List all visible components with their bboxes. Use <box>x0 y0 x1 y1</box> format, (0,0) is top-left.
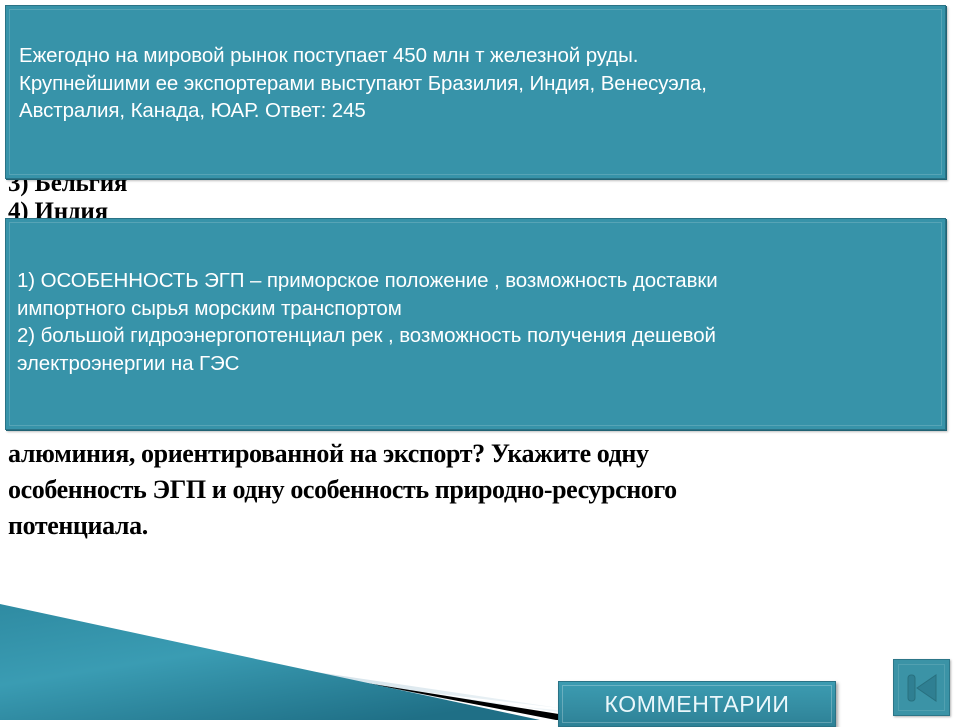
slide-canvas: 3) Бельгия 4) Индия алюминия, ориентиров… <box>0 0 960 720</box>
question-line: алюминия, ориентированной на экспорт? Ук… <box>8 436 677 472</box>
panel-line: Австралия, Канада, ЮАР. Ответ: 245 <box>19 97 707 125</box>
question-line: особенность ЭГП и одну особенность приро… <box>8 472 677 508</box>
comments-button-label: КОММЕНТАРИИ <box>605 691 790 718</box>
question-line: потенциала. <box>8 508 677 544</box>
answer-text: 1) ОСОБЕННОСТЬ ЭГП – приморское положени… <box>17 267 718 377</box>
panel-line: импортного сырья морским транспортом <box>17 295 718 323</box>
panel-line: Крупнейшими ее экспортерами выступают Бр… <box>19 70 707 98</box>
panel-line: 1) ОСОБЕННОСТЬ ЭГП – приморское положени… <box>17 267 718 295</box>
answer-panel: 1) ОСОБЕННОСТЬ ЭГП – приморское положени… <box>5 218 946 430</box>
skip-to-first-icon <box>904 672 940 704</box>
comments-button[interactable]: КОММЕНТАРИИ <box>558 681 836 727</box>
underlying-question-text: алюминия, ориентированной на экспорт? Ук… <box>8 436 677 544</box>
iron-ore-fact-panel: Ежегодно на мировой рынок поступает 450 … <box>5 5 946 179</box>
iron-ore-fact-text: Ежегодно на мировой рынок поступает 450 … <box>19 42 707 125</box>
panel-line: Ежегодно на мировой рынок поступает 450 … <box>19 42 707 70</box>
panel-line: 2) большой гидроэнергопотенциал рек , во… <box>17 322 718 350</box>
skip-to-first-button[interactable] <box>893 659 950 716</box>
panel-line: электроэнергии на ГЭС <box>17 350 718 378</box>
